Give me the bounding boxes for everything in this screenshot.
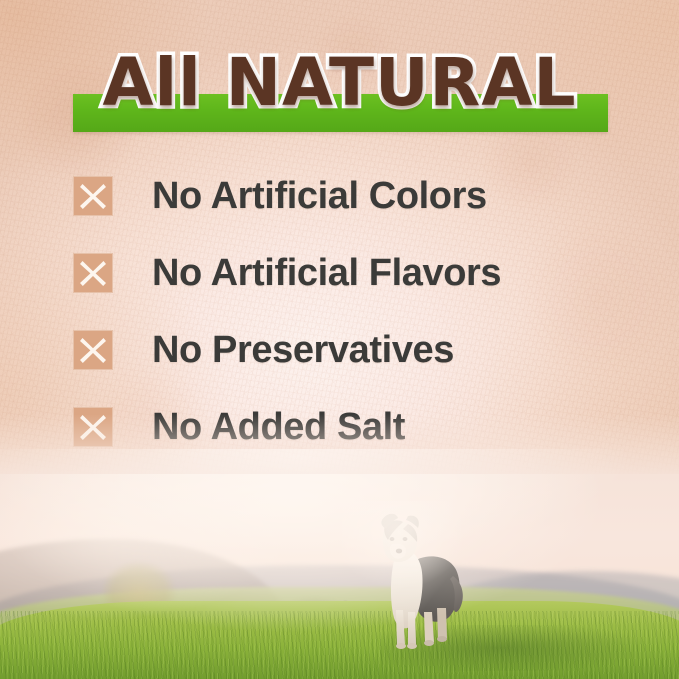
x-mark-icon: [73, 330, 113, 370]
x-mark-icon: [73, 407, 113, 447]
list-item: No Added Salt: [73, 407, 633, 447]
dog-photo: [358, 506, 470, 651]
list-item-label: No Added Salt: [152, 407, 405, 447]
list-item: No Preservatives: [73, 330, 633, 370]
claims-list: No Artificial Colors No Artificial Flavo…: [73, 176, 633, 484]
list-item-label: No Preservatives: [152, 330, 454, 370]
list-item-label: No Artificial Colors: [152, 176, 487, 216]
list-item: No Artificial Flavors: [73, 253, 633, 293]
poster-canvas: All NATURAL No Artificial Colors No Arti…: [0, 0, 679, 679]
x-mark-icon: [73, 176, 113, 216]
list-item: No Artificial Colors: [73, 176, 633, 216]
page-title: All NATURAL: [0, 44, 679, 122]
landscape-photo: [0, 474, 679, 679]
list-item-label: No Artificial Flavors: [152, 253, 501, 293]
headline-block: All NATURAL: [0, 44, 679, 140]
x-mark-icon: [73, 253, 113, 293]
